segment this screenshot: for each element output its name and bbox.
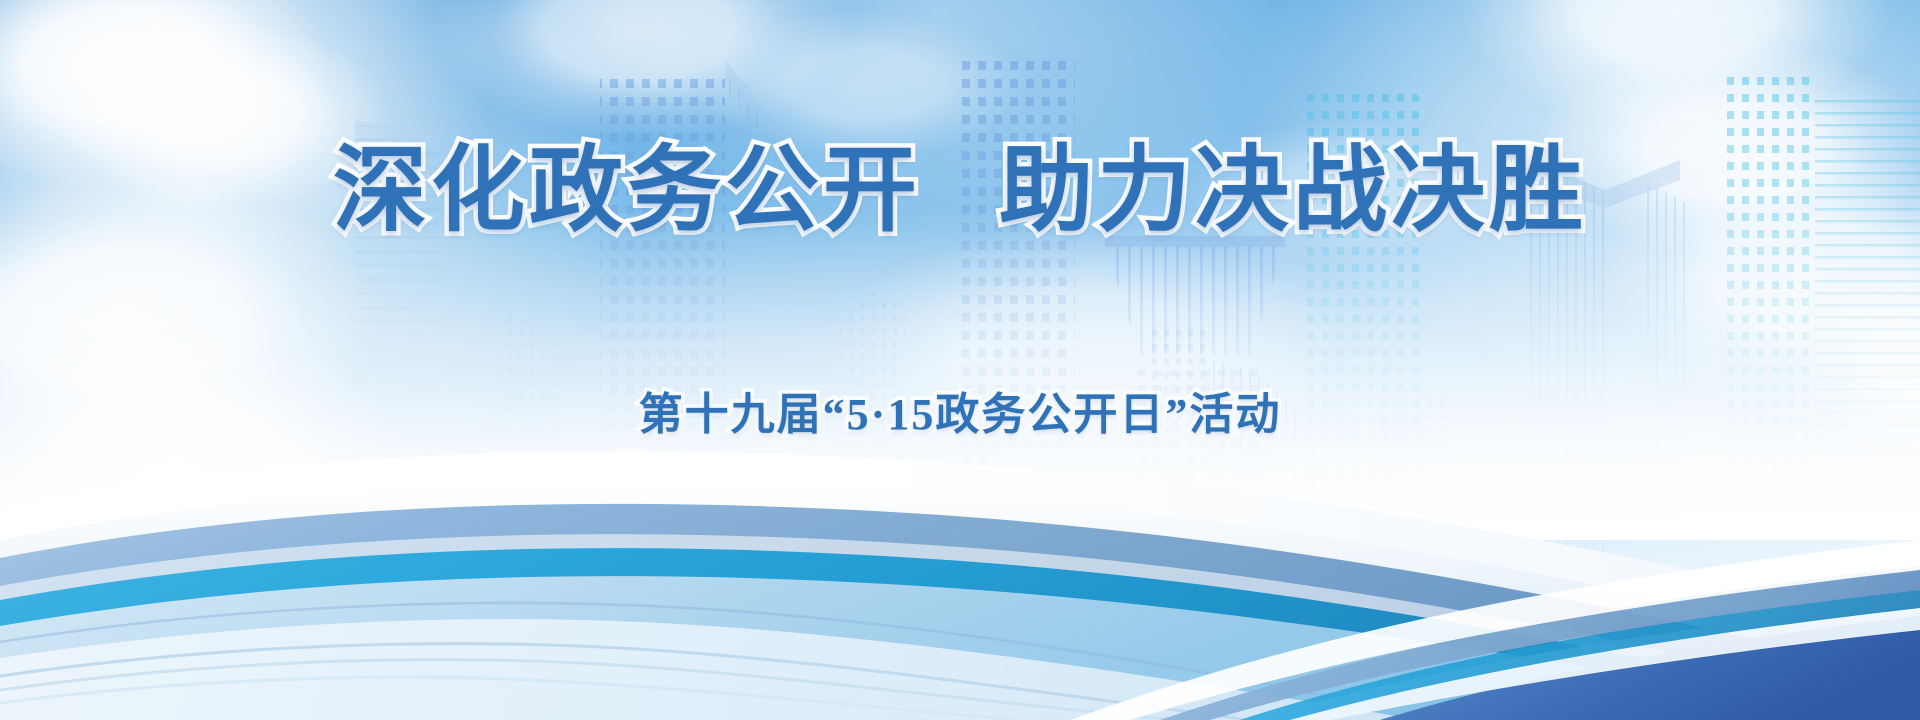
building-right-striped — [1720, 75, 1920, 530]
building-pale-left — [355, 120, 440, 500]
wave-white-top — [0, 451, 1920, 720]
city-skyline-right-detail — [1150, 300, 1570, 600]
building-conical-tower — [1105, 236, 1285, 550]
building-step-midleft — [840, 290, 905, 510]
wave-ribbons — [0, 390, 1920, 720]
cloud-top-center — [430, 0, 850, 140]
wave-white-sliver — [0, 534, 1920, 720]
building-cyan-dotted — [1300, 85, 1420, 510]
event-banner: 深化政务公开助力决战决胜 第十九届“5·15政务公开日”活动 — [0, 0, 1920, 720]
wave-navy-wedge — [1380, 616, 1920, 720]
wave-thin-lines — [0, 603, 1360, 720]
wave-lightblue-body — [0, 576, 1920, 720]
cloud-center-wisp — [700, 10, 1030, 160]
building-dotted-central — [960, 60, 1075, 510]
wave-steel-ribbon — [0, 504, 1920, 720]
wave-right-crescent — [1250, 602, 1920, 720]
cloud-right-mid — [1540, 40, 1920, 260]
building-small-dots-left — [500, 310, 560, 510]
cloud-left-lower — [0, 330, 410, 600]
wave-pale-inner — [0, 619, 1420, 720]
cloud-right-top — [1460, 0, 1890, 130]
headline-part-2: 助力决战决胜 — [999, 142, 1587, 242]
sky-haze-right — [1240, 0, 1920, 370]
building-diagonal-lines — [725, 60, 800, 170]
cloud-left-mid — [0, 170, 380, 470]
sky-haze-center — [560, 0, 1320, 230]
building-peaked-lines — [1530, 160, 1690, 560]
wave-cyan-ribbon — [0, 548, 1920, 720]
sky-haze-left — [0, 0, 640, 500]
building-needle-dome — [645, 40, 800, 240]
wave-right-cyan-stripe — [1240, 590, 1920, 720]
wave-right-steel-stripe — [1160, 566, 1920, 720]
building-dotted-tall-left — [600, 75, 790, 505]
wave-pale-shadow — [0, 484, 1920, 720]
sky-haze-upper-left — [0, 0, 500, 300]
building-curved-right — [1060, 440, 1200, 600]
wave-right-white-band — [1070, 540, 1920, 720]
cloud-top-left-b — [60, 20, 390, 210]
headline-part-1: 深化政务公开 — [333, 142, 921, 242]
headline: 深化政务公开助力决战决胜 — [0, 142, 1920, 242]
cloud-top-left-a — [0, 0, 330, 190]
cloud-far-right — [1780, 250, 1920, 470]
cloud-mid-right-wisp — [1180, 120, 1510, 260]
bottom-white-haze — [0, 210, 1920, 540]
cloud-right-lower — [1600, 150, 1920, 400]
city-skyline — [0, 40, 1920, 600]
subtitle: 第十九届“5·15政务公开日”活动 — [0, 378, 1920, 442]
cloud-center-low — [820, 230, 1340, 470]
subtitle-text: 第十九届“5·15政务公开日”活动 — [639, 378, 1282, 442]
building-striped-mid — [830, 390, 905, 580]
